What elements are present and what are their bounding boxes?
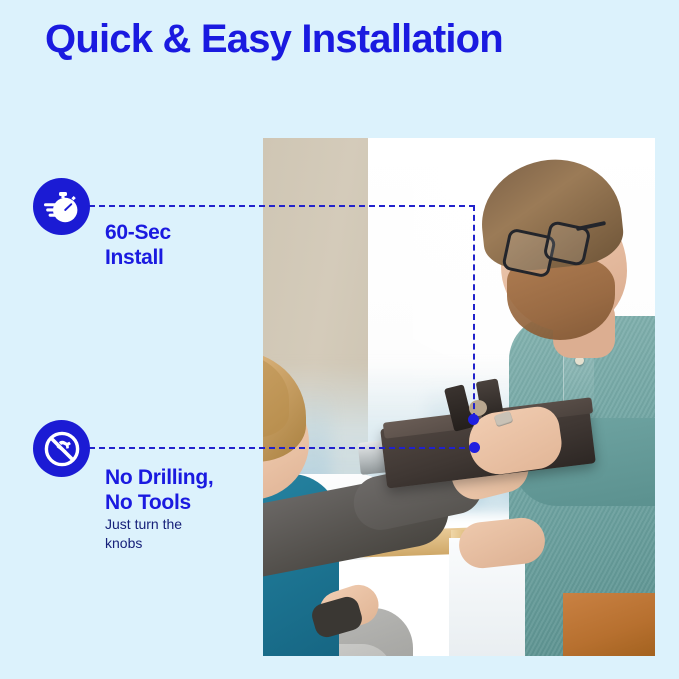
infographic-canvas: Quick & Easy Installation xyxy=(0,0,679,679)
connector-line-horizontal-1 xyxy=(89,447,475,449)
feature-subtitle-1: Just turn the knobs xyxy=(105,515,182,553)
feature-title-0: 60-Sec Install xyxy=(105,221,171,271)
page-title: Quick & Easy Installation xyxy=(45,16,503,62)
stopwatch-speed-icon xyxy=(33,178,90,235)
no-tools-hammer-icon xyxy=(33,420,90,477)
feature-title-1: No Drilling, No Tools xyxy=(105,466,213,516)
product-photo xyxy=(263,138,655,656)
connector-line-horizontal-0 xyxy=(89,205,475,207)
man-pants xyxy=(563,593,655,656)
connector-end-dot-1 xyxy=(469,442,480,453)
connector-end-dot-0 xyxy=(468,414,479,425)
connector-line-vertical-0 xyxy=(473,205,475,419)
